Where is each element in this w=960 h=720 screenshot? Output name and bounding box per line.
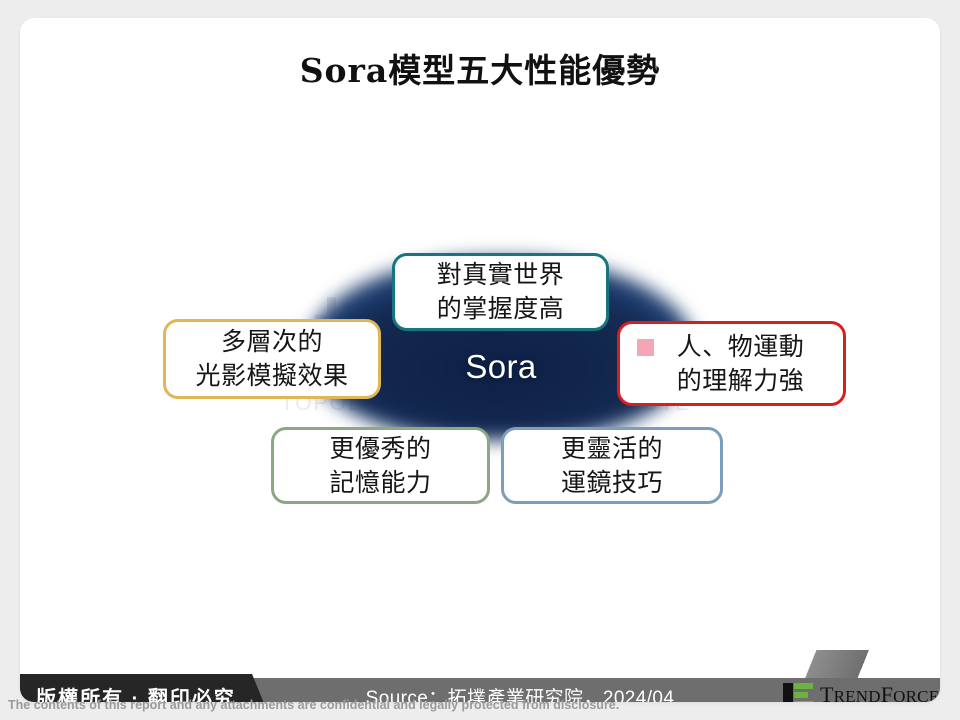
feature-box-bottom-left-label: 更優秀的 記憶能力	[329, 432, 431, 500]
feature-box-top[interactable]: 對真實世界 的掌握度高	[392, 253, 609, 331]
feature-box-left-label: 多層次的 光影模擬效果	[195, 325, 348, 393]
slide-canvas: Sora模型五大性能優勢 拓墣TRI TOPOLOGY RESEARCH INS…	[20, 18, 940, 702]
page-title: Sora模型五大性能優勢	[20, 44, 940, 92]
feature-box-right[interactable]: 人、物運動 的理解力強	[617, 321, 846, 406]
feature-box-bottom-right-label: 更靈活的 運鏡技巧	[561, 432, 663, 500]
feature-box-right-label: 人、物運動 的理解力強	[659, 330, 805, 398]
feature-box-top-label: 對真實世界 的掌握度高	[437, 258, 565, 326]
feature-box-bottom-right[interactable]: 更靈活的 運鏡技巧	[501, 427, 723, 504]
square-bullet-icon	[637, 339, 654, 356]
feature-box-left[interactable]: 多層次的 光影模擬效果	[163, 319, 381, 399]
disclaimer-text: The contents of this report and any atta…	[8, 698, 908, 712]
feature-box-bottom-left[interactable]: 更優秀的 記憶能力	[271, 427, 490, 504]
